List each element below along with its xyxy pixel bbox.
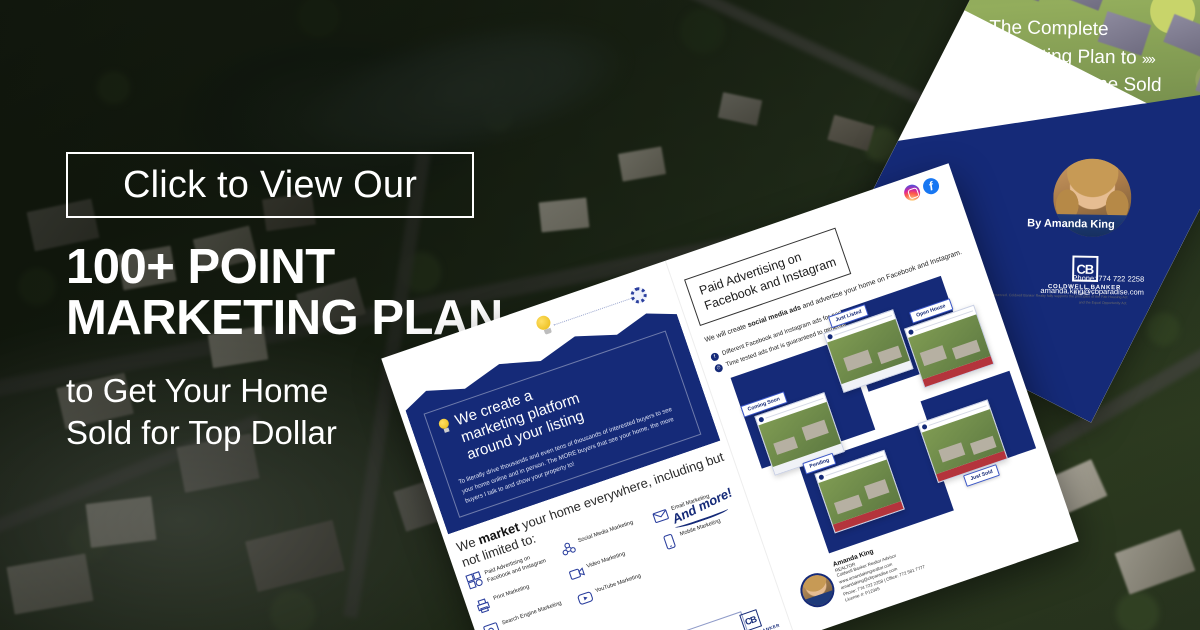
mobile-icon — [660, 531, 680, 551]
video-icon — [566, 564, 586, 584]
coldwell-banker-logo: CB COLDWELL BANKER REALTY — [723, 604, 782, 630]
social-icons-group — [902, 176, 941, 203]
cover-title-line-1: The Complete — [989, 17, 1109, 40]
channel-label: Print Marketing — [492, 582, 531, 603]
cta-button[interactable]: Click to View Our — [66, 152, 474, 218]
promo-banner: Click to View Our 100+ POINT MARKETING P… — [0, 0, 1200, 630]
cb-monogram-icon: CB — [739, 609, 762, 630]
body-lead: We will create — [704, 322, 749, 343]
facebook-icon — [921, 176, 941, 196]
lightbulb-icon — [438, 417, 453, 434]
facebook-icon: f — [710, 352, 720, 362]
cover-byline: By Amanda King — [1027, 217, 1115, 231]
channel-label: YouTube Marketing — [594, 571, 643, 596]
youtube-icon — [575, 588, 595, 608]
cta-label: Click to View Our — [123, 166, 417, 204]
cover-title: The Complete Marketing Plan to ›››› Get … — [988, 14, 1200, 101]
avatar — [796, 569, 839, 612]
clock-icon: ⏱ — [714, 363, 724, 373]
print-icon — [473, 596, 493, 616]
page-title-line-1: 100+ POINT — [66, 242, 586, 293]
social-media-icon — [558, 538, 578, 558]
channel-label: Video Marketing — [585, 549, 626, 571]
dotted-connector — [554, 297, 634, 326]
facebook-instagram-ads-icon — [464, 570, 484, 590]
instagram-icon — [902, 183, 922, 203]
gear-icon — [628, 285, 648, 305]
upcoming-pages-note: Check the upcoming pages for more detail… — [541, 611, 750, 630]
chevron-right-icon: ›››› — [1142, 50, 1154, 67]
cover-title-line-2: Marketing Plan to — [989, 45, 1137, 69]
cover-title-line-3: Get Your Home Sold — [988, 72, 1162, 96]
search-engine-icon — [482, 620, 502, 630]
